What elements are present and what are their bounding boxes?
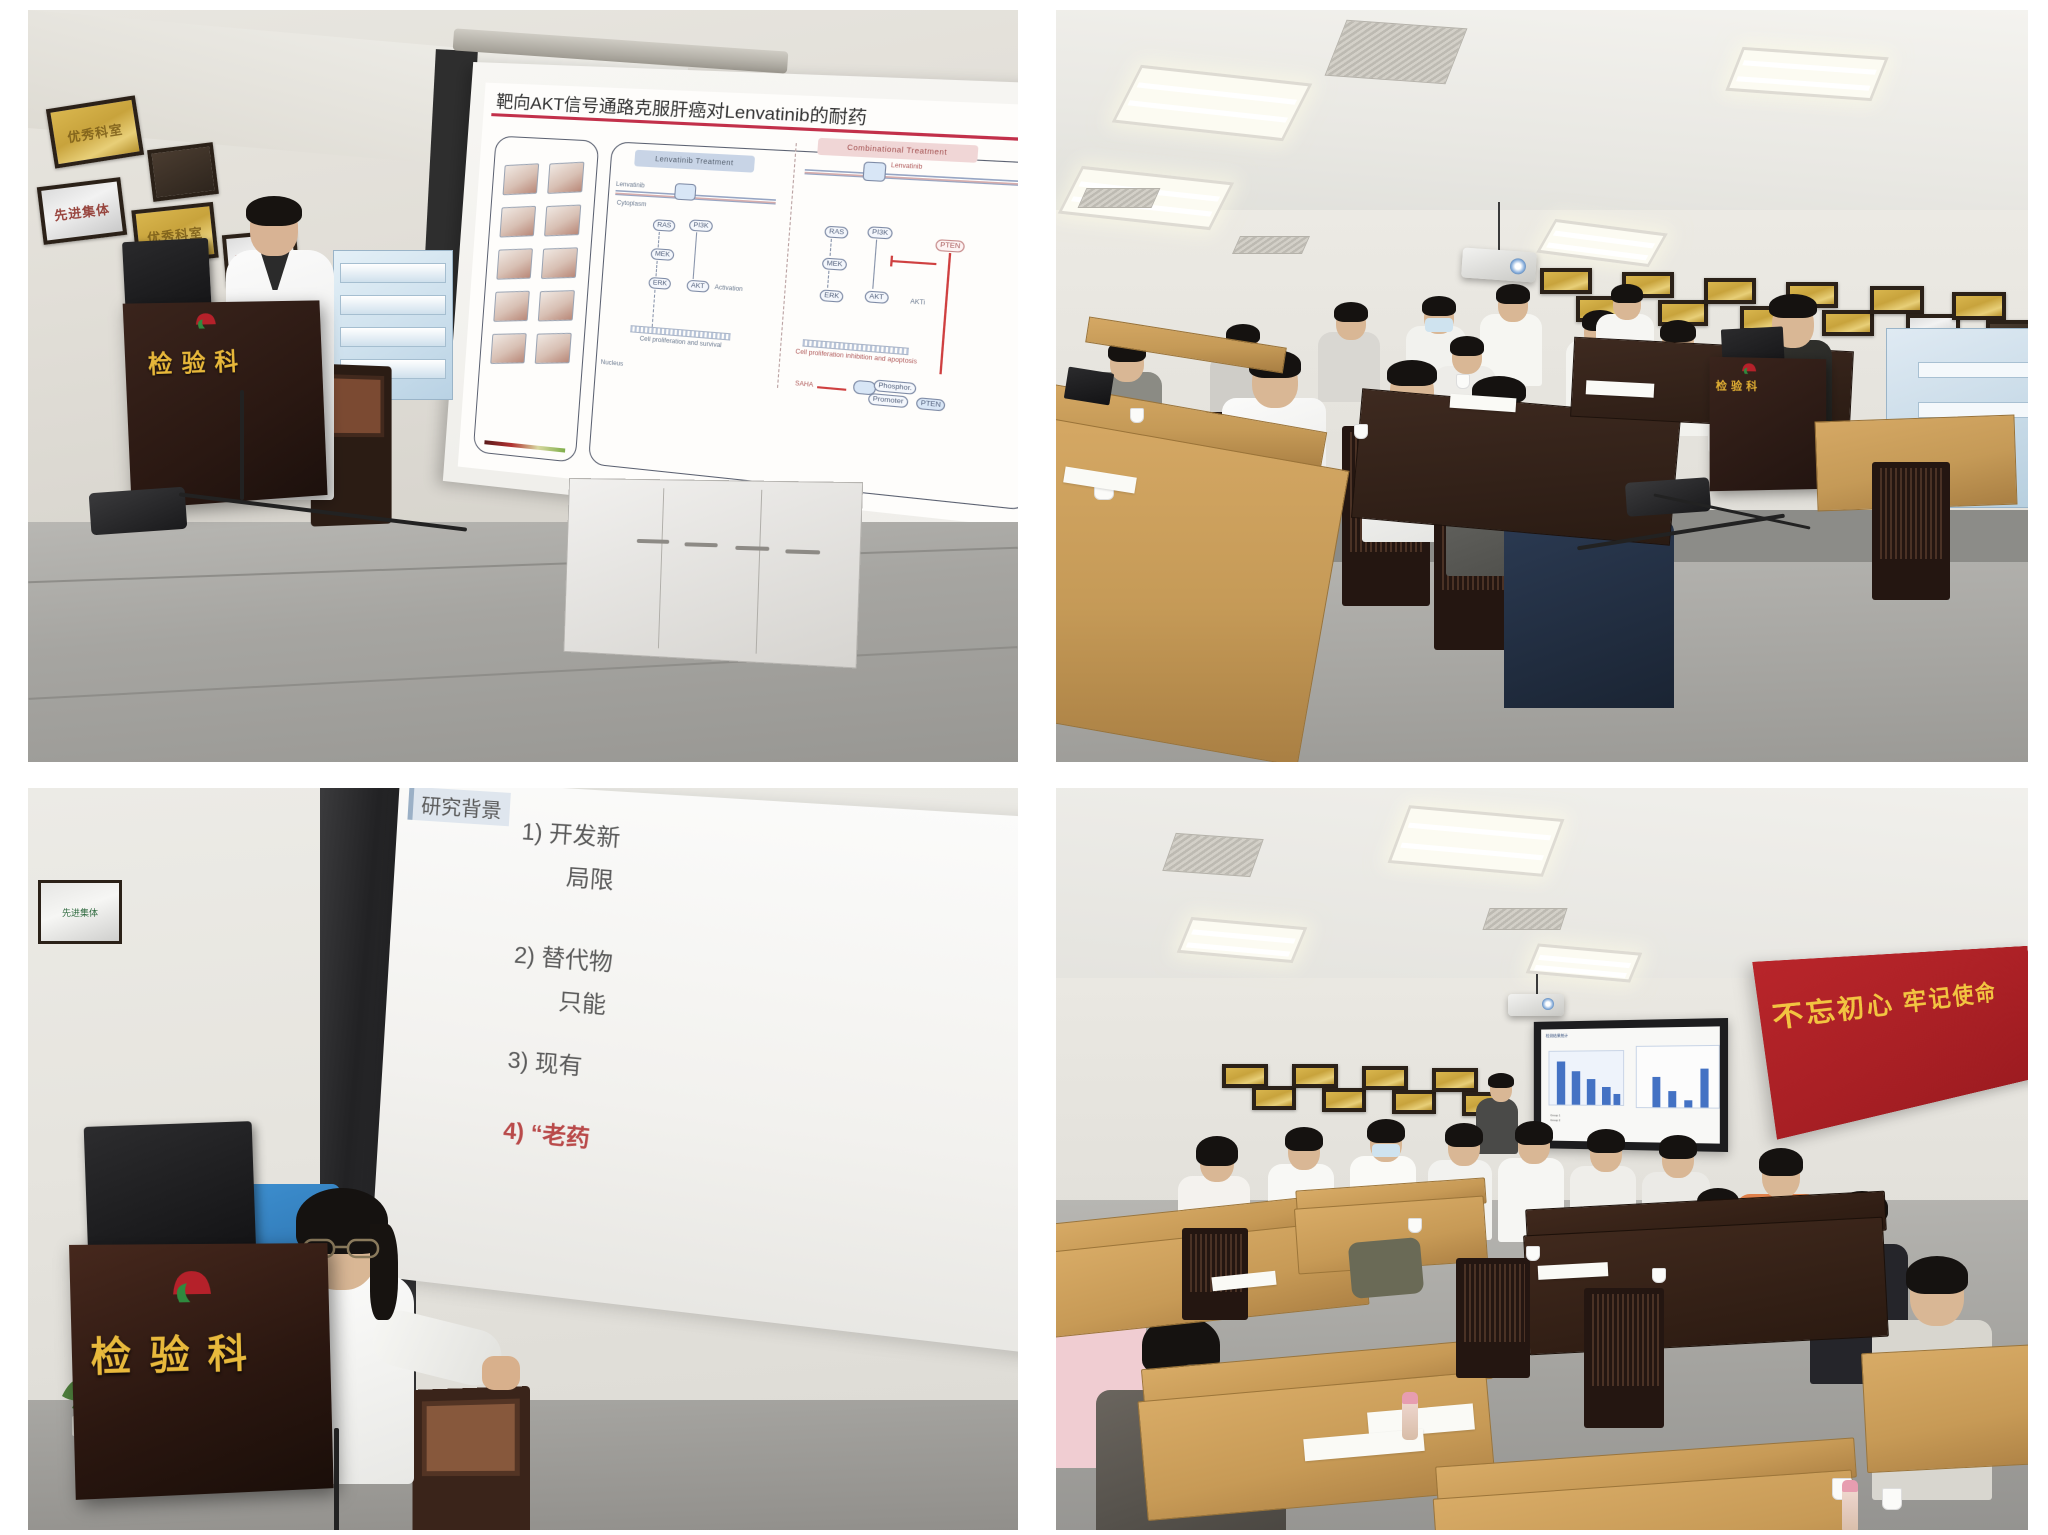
agent-arrow [817,386,846,391]
nucleus-label: Nucleus [600,360,623,370]
wooden-chair [413,1386,530,1530]
item-number: 1) [521,818,543,846]
conference-table [1056,414,1350,762]
floor-seam [28,547,1017,583]
wall-plaque [1952,292,2006,320]
wall-plaque [1362,1066,1408,1090]
cable [240,390,244,500]
pathway-panel: Lenvatinib Treatment Combinational Treat… [588,141,1018,511]
pathway-node-mek-left: MEK [650,248,674,261]
chair-back [1589,1294,1659,1386]
projector-lens [1509,258,1526,275]
pathway-node-erk-left: ERK [648,277,671,290]
bottle-cap [1402,1392,1418,1404]
chart-legend: Group 1 Group 2 [1550,1113,1560,1122]
wall-plaque-label: 先进集体 [53,198,111,224]
certificate-label: 先进集体 [62,906,98,919]
pathway-header-left: Lenvatinib Treatment [634,150,755,173]
light-tube [1408,823,1552,841]
pathway-arrow [872,240,877,289]
banner-text: 不忘初心 牢记使命 [1770,980,1998,1038]
paper-cup [1408,1218,1422,1233]
hair [1285,1127,1323,1151]
hair [1496,284,1530,304]
chart-right [1636,1045,1720,1109]
hair [1906,1256,1968,1294]
pten-up-arrow [939,253,950,374]
wall-plaque: 先进集体 [37,177,127,245]
face-mask [1425,318,1453,332]
drug-label-left: Lenvatinib [616,182,645,191]
blot-image [496,248,533,279]
podium-monitor [84,1121,257,1263]
photo-top-right: 检验科 [1056,10,2028,762]
collage-panel-bottom-left: 先进集体 研究背景 1) 开发新 局限 2) 替代物 只能 3) 现有 [0,770,1036,1535]
item-text: 替代物 [541,944,614,976]
chart-bar [1557,1061,1565,1104]
cabinet [563,478,863,669]
paper-cup [1130,408,1144,423]
wall-plaque [1222,1064,1268,1088]
wall-plaque [1322,1088,1366,1112]
desk [1861,1343,2028,1473]
shelf-tray [340,263,446,283]
water-bottle [1842,1488,1858,1530]
hair [1450,336,1484,356]
light-tube [1137,82,1298,104]
backpack [1348,1237,1425,1299]
pathway-node-ras-left: RAS [653,219,676,232]
podium: 检验科 [1710,357,1827,491]
legend-entry: Group 2 [1550,1118,1560,1123]
chair [1584,1288,1664,1428]
inhibitor-label: AKTi [910,299,925,308]
hospital-logo-icon [192,310,219,331]
podium-label: 检验科 [1716,377,1761,394]
chart-bar [1652,1077,1660,1107]
water-bottle [1402,1400,1418,1440]
pathway-node-pten: PTEN [935,239,965,253]
pathway-node-mek-right: MEK [822,257,848,270]
podium-label: 检验科 [147,340,296,380]
chair-back [1877,468,1945,559]
photo-bottom-left: 先进集体 研究背景 1) 开发新 局限 2) 替代物 只能 3) 现有 [28,788,1018,1530]
light-tube [1742,60,1877,74]
chart-bar [1684,1100,1692,1107]
pathway-node-akt-right: AKT [864,290,888,303]
pathway-node-pi3k-left: PI3K [689,219,714,232]
cable [334,1428,339,1530]
drug-label-right: Lenvatinib [891,163,923,173]
projection-screen: 靶向AKT信号通路克服肝癌对Lenvatinib的耐药 [443,62,1018,549]
chart-bar [1602,1087,1611,1105]
collage-panel-top-left: 优秀科室 先进集体 优秀科室 先进集体 靶向AKT信号通路克服肝癌对Lenvat… [0,0,1036,770]
slide-item-4: 4) “老药 [502,1111,590,1154]
cabinet-handle [684,542,717,547]
wall-plaque [1540,268,1592,294]
floor-projector [89,487,188,536]
slide-body: Lenvatinib Treatment Combinational Treat… [468,123,1018,520]
colorbar [484,440,565,452]
item-text: 现有 [534,1049,583,1080]
torso [1476,1098,1518,1154]
hair [1422,296,1456,316]
podium: 检验科 [123,300,328,509]
wall-plaque [1292,1064,1338,1088]
supply-shelf [1918,362,2028,378]
hospital-logo-icon [167,1266,216,1307]
pten-gene-label: PTEN [916,397,946,412]
pathway-arrow [693,232,698,279]
air-vent [1078,188,1161,208]
blot-image [493,291,530,322]
hair [1659,1135,1697,1159]
shelf-tray [340,327,446,347]
blot-image [544,205,581,237]
chart-bar [1700,1069,1708,1108]
projector-lens [1542,998,1554,1010]
legend-entry: Group 1 [1550,1113,1560,1117]
projector-mount [1498,202,1500,252]
pathway-arrow [830,239,832,256]
hair [1334,302,1368,322]
cabinet-handle [637,539,670,544]
floor [28,522,1018,762]
light-tube [1191,929,1296,943]
projection-screen: 研究背景 1) 开发新 局限 2) 替代物 只能 3) 现有 4) “老药 [370,788,1018,1356]
paper-cup [1882,1488,1902,1510]
air-vent [1162,833,1264,877]
hair [1769,294,1817,318]
item-number: 4) [503,1117,525,1145]
wall-plaque [147,142,219,202]
hair [1515,1121,1553,1145]
pathway-header-right: Combinational Treatment [817,138,978,163]
wall-plaque-label: 优秀科室 [66,118,124,146]
inhibition-bar [890,260,936,265]
blot-image [538,290,575,321]
photo-top-left: 优秀科室 先进集体 优秀科室 先进集体 靶向AKT信号通路克服肝癌对Lenvat… [28,10,1018,762]
item-number: 2) [513,941,535,969]
wall-plaque [1704,278,1756,304]
slide-item-3: 3) 现有 [507,1040,584,1081]
hair [1660,320,1696,342]
podium: 检验科 [69,1243,334,1500]
chair [1456,1258,1530,1378]
hair [1759,1148,1803,1176]
pathway-arrow [658,232,660,248]
wall-plaque [1432,1068,1478,1092]
pathway-arrow [652,290,656,327]
floor-seam [29,646,1018,699]
hospital-logo-icon [1740,361,1758,375]
cabinet-handle [735,546,769,551]
light-tube [1400,843,1544,861]
hair [1387,360,1437,386]
collage-gutter-horizontal [0,762,2048,786]
blot-image [490,333,527,364]
air-vent [1325,20,1468,85]
ceiling-projector [1508,994,1564,1016]
receptor-left [674,183,697,201]
framed-certificate: 先进集体 [38,880,122,944]
blot-image [535,333,572,364]
slide-item-1-cont: 局限 [565,858,615,896]
chair [1872,462,1950,600]
chart-bar [1572,1071,1580,1104]
pathway-node-erk-right: ERK [819,289,844,302]
slide-header: 研究背景 [407,788,510,826]
chair-back [1461,1264,1525,1342]
chart-left [1549,1050,1625,1106]
slide-item-2-cont: 只能 [558,982,608,1021]
blot-image [547,162,584,194]
collage-panel-bottom-right: 不忘初心 牢记使命 检测结果统计 [1036,770,2048,1535]
shelf-tray [340,295,446,315]
slide-item-1: 1) 开发新 [521,812,622,853]
wall-plaque [1392,1090,1436,1114]
activation-label: Activation [714,285,743,295]
light-tube [1186,942,1291,956]
receptor-right [862,161,886,181]
item-text: “老药 [530,1120,591,1152]
air-vent [1232,236,1310,254]
cabinet-seam [658,488,664,648]
item-text: 开发新 [548,820,621,851]
chart-bar [1668,1091,1676,1107]
bottle-cap [1842,1480,1858,1492]
hand [482,1356,520,1390]
air-vent [1482,908,1567,930]
light-tube [1736,76,1871,90]
photo-collage: 优秀科室 先进集体 优秀科室 先进集体 靶向AKT信号通路克服肝癌对Lenvat… [0,0,2048,1535]
pathway-node-pi3k-right: PI3K [867,226,893,239]
photo-bottom-right: 不忘初心 牢记使命 检测结果统计 [1056,788,2028,1530]
slide-chart-title: 检测结果统计 [1546,1033,1568,1039]
hair [1488,1073,1514,1088]
paper-cup [1354,424,1368,439]
pathway-arrow [827,271,829,288]
pathway-arrow [655,261,657,277]
slide-item-2: 2) 替代物 [513,935,614,977]
phosphorylation-label: Phosphor. [873,379,917,395]
chart-bar [1587,1079,1596,1105]
hair [1587,1129,1625,1153]
cabinet-seam [756,490,763,654]
blot-image [499,206,536,238]
item-number: 3) [507,1046,529,1074]
paper-cup [1526,1246,1540,1261]
blot-image [541,247,578,279]
hair [246,196,302,226]
hair [1367,1119,1405,1143]
collage-panel-top-right: 检验科 [1036,0,2048,770]
blot-panel [473,136,600,463]
agent-label: SAHA [795,381,814,391]
pathway-node-akt-left: AKT [686,280,709,293]
wall-plaque [1870,286,1924,314]
hair [1445,1123,1483,1147]
slide: 靶向AKT信号通路克服肝癌对Lenvatinib的耐药 [458,83,1018,530]
chair-back [422,1399,520,1477]
hair [1611,284,1643,303]
face-mask [1372,1144,1400,1157]
podium-label: 检验科 [90,1321,266,1383]
ceiling-projector [1461,247,1537,282]
chart-bar [1614,1094,1621,1105]
cytoplasm-label: Cytoplasm [616,200,646,210]
wall-plaque [1822,310,1874,336]
paper-cup [1456,374,1470,389]
pathway-node-ras-right: RAS [824,226,849,239]
projection-screen: 检测结果统计 Group 1 Group 2 [1534,1018,1728,1152]
wall-plaque [1252,1086,1296,1110]
paper-cup [1652,1268,1666,1283]
light-tube [1127,100,1288,122]
cabinet-handle [785,549,820,554]
hair [1196,1136,1238,1166]
blot-image [502,163,539,195]
promoter-label: Promoter [868,393,909,408]
conference-table [1523,1217,1889,1356]
